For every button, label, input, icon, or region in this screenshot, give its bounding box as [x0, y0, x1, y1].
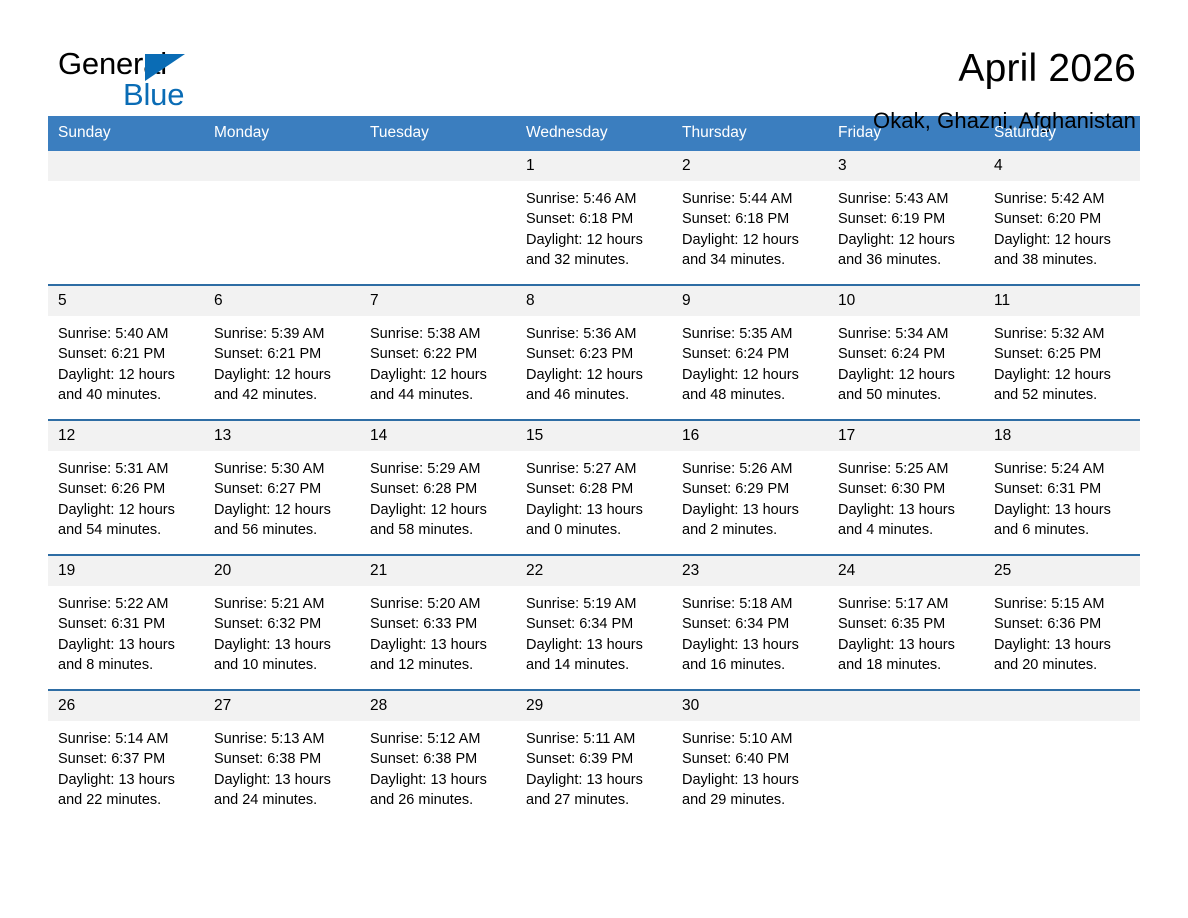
day-cell[interactable]: 4 Sunrise: 5:42 AM Sunset: 6:20 PM Dayli… [984, 151, 1140, 284]
day-cell[interactable]: 5 Sunrise: 5:40 AM Sunset: 6:21 PM Dayli… [48, 286, 204, 419]
day-details: Sunrise: 5:32 AM Sunset: 6:25 PM Dayligh… [984, 316, 1140, 405]
day-details: Sunrise: 5:42 AM Sunset: 6:20 PM Dayligh… [984, 181, 1140, 270]
day-cell [828, 691, 984, 824]
day-number: 19 [48, 556, 204, 586]
weekday-header-row: Sunday Monday Tuesday Wednesday Thursday… [48, 116, 1140, 151]
day-details: Sunrise: 5:10 AM Sunset: 6:40 PM Dayligh… [672, 721, 828, 810]
day-cell[interactable]: 26 Sunrise: 5:14 AM Sunset: 6:37 PM Dayl… [48, 691, 204, 824]
weekday-header-tuesday: Tuesday [360, 116, 516, 151]
day-number: 20 [204, 556, 360, 586]
day-cell[interactable]: 30 Sunrise: 5:10 AM Sunset: 6:40 PM Dayl… [672, 691, 828, 824]
day-number [204, 151, 360, 181]
day-details: Sunrise: 5:25 AM Sunset: 6:30 PM Dayligh… [828, 451, 984, 540]
day-cell[interactable]: 25 Sunrise: 5:15 AM Sunset: 6:36 PM Dayl… [984, 556, 1140, 689]
day-cell[interactable]: 23 Sunrise: 5:18 AM Sunset: 6:34 PM Dayl… [672, 556, 828, 689]
calendar-grid: Sunday Monday Tuesday Wednesday Thursday… [48, 116, 1140, 824]
day-cell[interactable]: 27 Sunrise: 5:13 AM Sunset: 6:38 PM Dayl… [204, 691, 360, 824]
day-cell[interactable]: 2 Sunrise: 5:44 AM Sunset: 6:18 PM Dayli… [672, 151, 828, 284]
weekday-header-sunday: Sunday [48, 116, 204, 151]
day-number: 15 [516, 421, 672, 451]
day-details: Sunrise: 5:39 AM Sunset: 6:21 PM Dayligh… [204, 316, 360, 405]
day-number: 5 [48, 286, 204, 316]
day-details: Sunrise: 5:38 AM Sunset: 6:22 PM Dayligh… [360, 316, 516, 405]
week-row: 19 Sunrise: 5:22 AM Sunset: 6:31 PM Dayl… [48, 554, 1140, 689]
week-row: 12 Sunrise: 5:31 AM Sunset: 6:26 PM Dayl… [48, 419, 1140, 554]
week-row: 5 Sunrise: 5:40 AM Sunset: 6:21 PM Dayli… [48, 284, 1140, 419]
day-details: Sunrise: 5:36 AM Sunset: 6:23 PM Dayligh… [516, 316, 672, 405]
day-number: 27 [204, 691, 360, 721]
generalblue-logo[interactable]: General Blue [48, 46, 228, 118]
day-details: Sunrise: 5:34 AM Sunset: 6:24 PM Dayligh… [828, 316, 984, 405]
day-cell[interactable]: 6 Sunrise: 5:39 AM Sunset: 6:21 PM Dayli… [204, 286, 360, 419]
day-details: Sunrise: 5:29 AM Sunset: 6:28 PM Dayligh… [360, 451, 516, 540]
day-number: 24 [828, 556, 984, 586]
weekday-header-thursday: Thursday [672, 116, 828, 151]
day-cell[interactable]: 21 Sunrise: 5:20 AM Sunset: 6:33 PM Dayl… [360, 556, 516, 689]
day-cell[interactable]: 10 Sunrise: 5:34 AM Sunset: 6:24 PM Dayl… [828, 286, 984, 419]
day-number: 3 [828, 151, 984, 181]
day-number: 28 [360, 691, 516, 721]
day-number: 26 [48, 691, 204, 721]
day-number: 6 [204, 286, 360, 316]
day-cell[interactable]: 22 Sunrise: 5:19 AM Sunset: 6:34 PM Dayl… [516, 556, 672, 689]
day-number: 1 [516, 151, 672, 181]
day-details: Sunrise: 5:20 AM Sunset: 6:33 PM Dayligh… [360, 586, 516, 675]
day-number: 9 [672, 286, 828, 316]
week-row: 26 Sunrise: 5:14 AM Sunset: 6:37 PM Dayl… [48, 689, 1140, 824]
day-details: Sunrise: 5:13 AM Sunset: 6:38 PM Dayligh… [204, 721, 360, 810]
day-number: 14 [360, 421, 516, 451]
day-number: 18 [984, 421, 1140, 451]
day-cell[interactable]: 29 Sunrise: 5:11 AM Sunset: 6:39 PM Dayl… [516, 691, 672, 824]
day-number [984, 691, 1140, 721]
day-details: Sunrise: 5:27 AM Sunset: 6:28 PM Dayligh… [516, 451, 672, 540]
day-details: Sunrise: 5:14 AM Sunset: 6:37 PM Dayligh… [48, 721, 204, 810]
day-details: Sunrise: 5:26 AM Sunset: 6:29 PM Dayligh… [672, 451, 828, 540]
day-details: Sunrise: 5:35 AM Sunset: 6:24 PM Dayligh… [672, 316, 828, 405]
day-cell[interactable]: 19 Sunrise: 5:22 AM Sunset: 6:31 PM Dayl… [48, 556, 204, 689]
day-cell[interactable]: 16 Sunrise: 5:26 AM Sunset: 6:29 PM Dayl… [672, 421, 828, 554]
day-cell [360, 151, 516, 284]
day-cell[interactable]: 7 Sunrise: 5:38 AM Sunset: 6:22 PM Dayli… [360, 286, 516, 419]
day-number: 7 [360, 286, 516, 316]
day-cell[interactable]: 9 Sunrise: 5:35 AM Sunset: 6:24 PM Dayli… [672, 286, 828, 419]
day-cell[interactable]: 17 Sunrise: 5:25 AM Sunset: 6:30 PM Dayl… [828, 421, 984, 554]
weekday-header-wednesday: Wednesday [516, 116, 672, 151]
day-cell[interactable]: 13 Sunrise: 5:30 AM Sunset: 6:27 PM Dayl… [204, 421, 360, 554]
day-cell [984, 691, 1140, 824]
day-details: Sunrise: 5:31 AM Sunset: 6:26 PM Dayligh… [48, 451, 204, 540]
day-cell[interactable]: 14 Sunrise: 5:29 AM Sunset: 6:28 PM Dayl… [360, 421, 516, 554]
page-title: April 2026 [873, 46, 1136, 92]
day-details: Sunrise: 5:15 AM Sunset: 6:36 PM Dayligh… [984, 586, 1140, 675]
day-cell[interactable]: 11 Sunrise: 5:32 AM Sunset: 6:25 PM Dayl… [984, 286, 1140, 419]
day-details: Sunrise: 5:44 AM Sunset: 6:18 PM Dayligh… [672, 181, 828, 270]
day-number: 21 [360, 556, 516, 586]
day-cell[interactable]: 1 Sunrise: 5:46 AM Sunset: 6:18 PM Dayli… [516, 151, 672, 284]
calendar-page: General Blue April 2026 Okak, Ghazni, Af… [0, 0, 1188, 918]
day-details: Sunrise: 5:43 AM Sunset: 6:19 PM Dayligh… [828, 181, 984, 270]
day-details: Sunrise: 5:22 AM Sunset: 6:31 PM Dayligh… [48, 586, 204, 675]
weekday-header-saturday: Saturday [984, 116, 1140, 151]
logo-text-blue: Blue [123, 77, 184, 113]
day-details: Sunrise: 5:11 AM Sunset: 6:39 PM Dayligh… [516, 721, 672, 810]
day-number: 8 [516, 286, 672, 316]
day-number: 4 [984, 151, 1140, 181]
day-details: Sunrise: 5:40 AM Sunset: 6:21 PM Dayligh… [48, 316, 204, 405]
day-number: 30 [672, 691, 828, 721]
weekday-header-monday: Monday [204, 116, 360, 151]
day-details: Sunrise: 5:12 AM Sunset: 6:38 PM Dayligh… [360, 721, 516, 810]
day-cell[interactable]: 24 Sunrise: 5:17 AM Sunset: 6:35 PM Dayl… [828, 556, 984, 689]
day-details: Sunrise: 5:30 AM Sunset: 6:27 PM Dayligh… [204, 451, 360, 540]
day-number: 25 [984, 556, 1140, 586]
day-cell[interactable]: 20 Sunrise: 5:21 AM Sunset: 6:32 PM Dayl… [204, 556, 360, 689]
day-number [360, 151, 516, 181]
day-number: 12 [48, 421, 204, 451]
day-details: Sunrise: 5:19 AM Sunset: 6:34 PM Dayligh… [516, 586, 672, 675]
day-cell[interactable]: 3 Sunrise: 5:43 AM Sunset: 6:19 PM Dayli… [828, 151, 984, 284]
day-number: 11 [984, 286, 1140, 316]
day-cell [48, 151, 204, 284]
day-number: 23 [672, 556, 828, 586]
day-number: 22 [516, 556, 672, 586]
day-number: 16 [672, 421, 828, 451]
day-number: 13 [204, 421, 360, 451]
day-details: Sunrise: 5:18 AM Sunset: 6:34 PM Dayligh… [672, 586, 828, 675]
page-header: General Blue April 2026 Okak, Ghazni, Af… [48, 0, 1140, 100]
day-cell[interactable]: 8 Sunrise: 5:36 AM Sunset: 6:23 PM Dayli… [516, 286, 672, 419]
day-details: Sunrise: 5:46 AM Sunset: 6:18 PM Dayligh… [516, 181, 672, 270]
day-number [828, 691, 984, 721]
day-number [48, 151, 204, 181]
day-number: 17 [828, 421, 984, 451]
day-cell[interactable]: 18 Sunrise: 5:24 AM Sunset: 6:31 PM Dayl… [984, 421, 1140, 554]
week-row: 1 Sunrise: 5:46 AM Sunset: 6:18 PM Dayli… [48, 151, 1140, 284]
day-number: 29 [516, 691, 672, 721]
day-cell[interactable]: 12 Sunrise: 5:31 AM Sunset: 6:26 PM Dayl… [48, 421, 204, 554]
day-number: 2 [672, 151, 828, 181]
weekday-header-friday: Friday [828, 116, 984, 151]
day-cell[interactable]: 15 Sunrise: 5:27 AM Sunset: 6:28 PM Dayl… [516, 421, 672, 554]
day-number: 10 [828, 286, 984, 316]
day-cell[interactable]: 28 Sunrise: 5:12 AM Sunset: 6:38 PM Dayl… [360, 691, 516, 824]
day-details: Sunrise: 5:21 AM Sunset: 6:32 PM Dayligh… [204, 586, 360, 675]
day-details: Sunrise: 5:24 AM Sunset: 6:31 PM Dayligh… [984, 451, 1140, 540]
day-details: Sunrise: 5:17 AM Sunset: 6:35 PM Dayligh… [828, 586, 984, 675]
day-cell [204, 151, 360, 284]
